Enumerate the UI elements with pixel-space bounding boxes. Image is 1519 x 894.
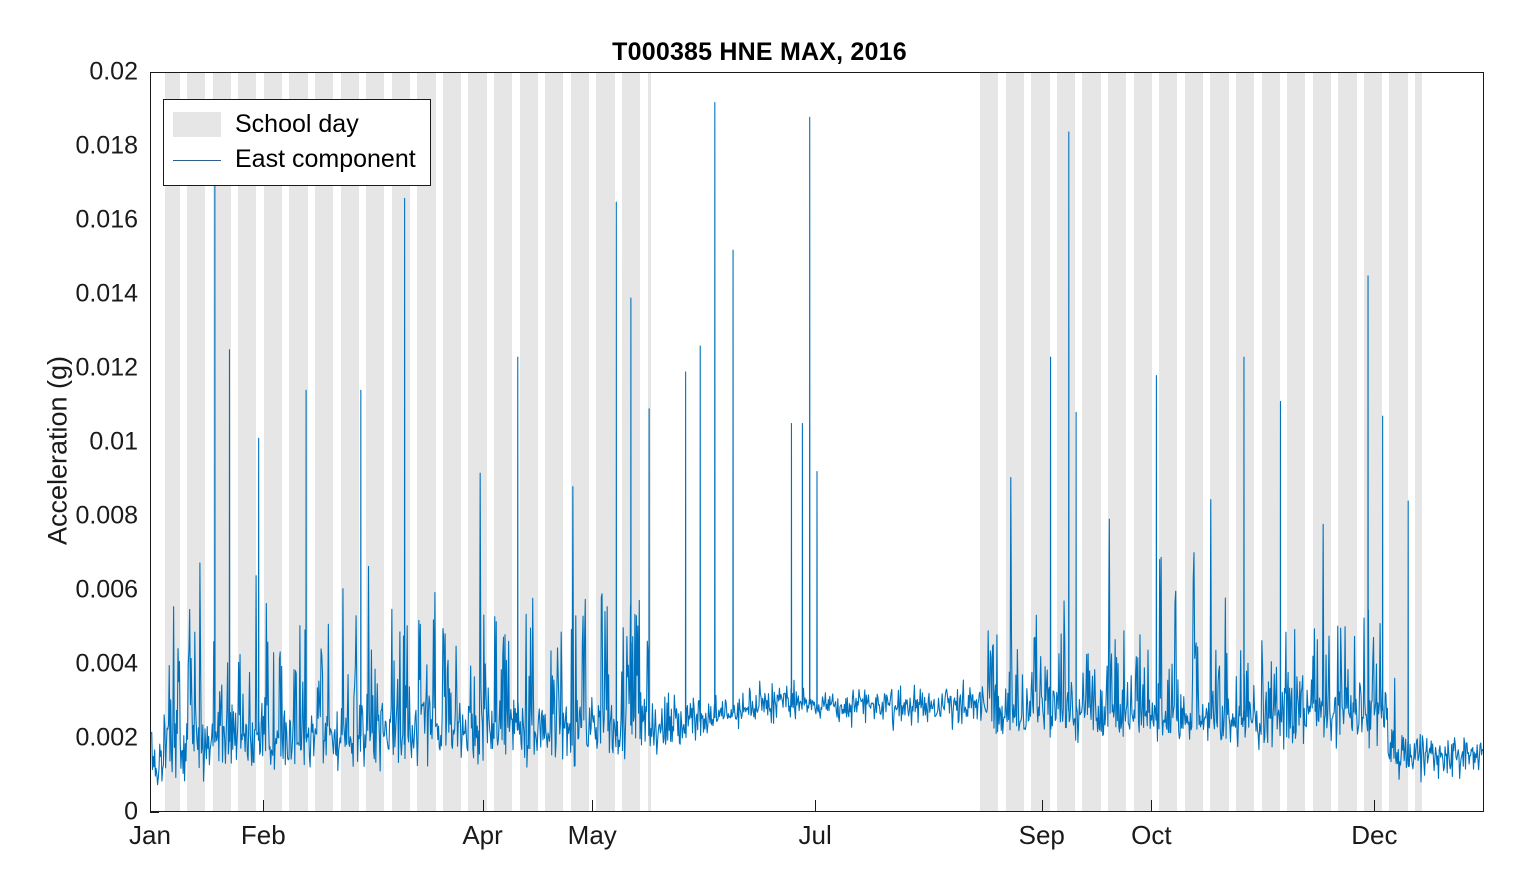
x-tick-label: May [568, 820, 617, 851]
legend-item-school-day: School day [173, 107, 416, 142]
chart-figure: T000385 HNE MAX, 2016 Acceleration (g) 0… [0, 0, 1519, 894]
x-tick-label: Oct [1131, 820, 1171, 851]
y-axis-tick-marks [0, 72, 170, 812]
legend-label-school-day: School day [235, 110, 359, 139]
east-component-swatch-icon [173, 147, 221, 172]
east-component-line [151, 103, 1483, 785]
x-tick-mark [1151, 800, 1152, 812]
x-tick-mark [263, 800, 264, 812]
legend-label-east-component: East component [235, 145, 416, 174]
x-tick-mark [592, 800, 593, 812]
x-tick-mark [815, 800, 816, 812]
x-tick-mark [1042, 800, 1043, 812]
school-day-swatch-icon [173, 112, 221, 137]
x-tick-mark [483, 800, 484, 812]
x-axis-ticks: JanFebAprMayJulSepOctDec [150, 812, 1484, 882]
chart-title: T000385 HNE MAX, 2016 [0, 38, 1519, 67]
x-tick-label: Sep [1019, 820, 1065, 851]
x-tick-mark [1374, 800, 1375, 812]
legend-item-east-component: East component [173, 142, 416, 177]
x-tick-label: Dec [1351, 820, 1397, 851]
x-tick-label: Apr [462, 820, 502, 851]
x-tick-label: Jan [129, 820, 171, 851]
x-tick-label: Jul [799, 820, 832, 851]
x-tick-label: Feb [241, 820, 286, 851]
chart-legend: School day East component [163, 99, 431, 186]
x-tick-mark [150, 800, 151, 812]
